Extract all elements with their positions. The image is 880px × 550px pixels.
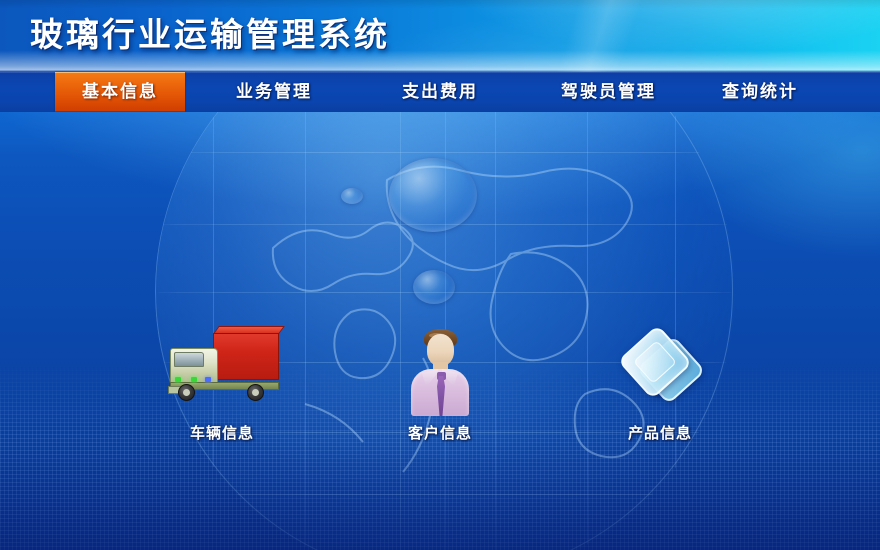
tile-label-product-info: 产品信息 xyxy=(575,422,745,443)
nav-item-expenses[interactable]: 支出费用 xyxy=(375,72,505,112)
nav-item-driver-management[interactable]: 驾驶员管理 xyxy=(531,72,686,112)
header-swoosh-decoration xyxy=(459,0,741,72)
main-content-area: 车辆信息 客户信息 xyxy=(0,112,880,550)
glass-panes-icon xyxy=(575,324,745,416)
tile-customer-info[interactable]: 客户信息 xyxy=(355,324,525,443)
page-title: 玻璃行业运输管理系统 xyxy=(30,13,390,57)
tile-product-info[interactable]: 产品信息 xyxy=(575,324,745,443)
truck-icon xyxy=(137,324,307,416)
module-tile-group: 车辆信息 客户信息 xyxy=(0,112,880,550)
nav-item-business-management[interactable]: 业务管理 xyxy=(209,72,339,112)
application-window: 玻璃行业运输管理系统 基本信息 业务管理 支出费用 驾驶员管理 查询统计 xyxy=(0,0,880,550)
tile-label-customer-info: 客户信息 xyxy=(355,422,525,443)
customer-person-icon xyxy=(355,324,525,416)
nav-item-list: 基本信息 业务管理 支出费用 驾驶员管理 查询统计 xyxy=(0,72,880,112)
nav-item-basic-info[interactable]: 基本信息 xyxy=(55,72,185,112)
tile-label-vehicle-info: 车辆信息 xyxy=(137,422,307,443)
nav-item-query-statistics[interactable]: 查询统计 xyxy=(695,72,825,112)
tile-vehicle-info[interactable]: 车辆信息 xyxy=(137,324,307,443)
main-navigation-bar: 基本信息 业务管理 支出费用 驾驶员管理 查询统计 xyxy=(0,72,880,112)
